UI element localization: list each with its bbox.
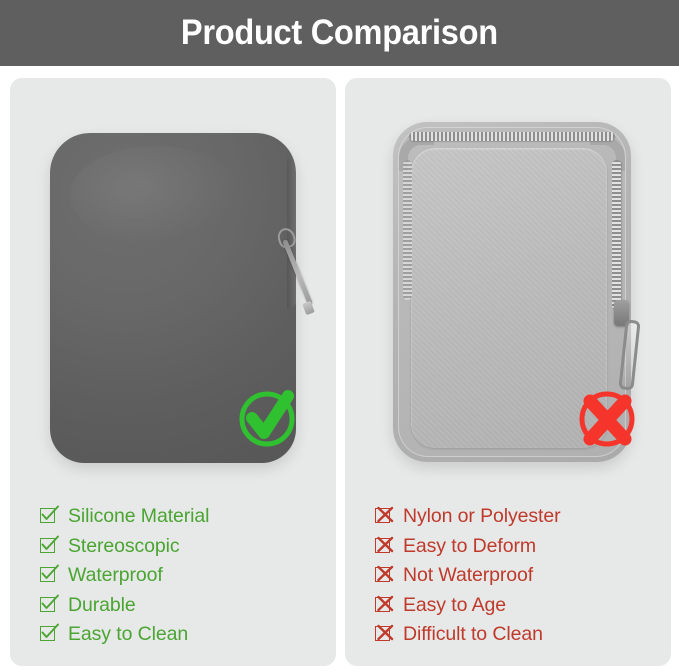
list-item: Easy to Age (375, 591, 661, 621)
feature-label: Difficult to Clean (403, 625, 543, 645)
zipper-track-right (612, 160, 621, 310)
list-item: Waterproof (40, 561, 326, 591)
list-item: Nylon or Polyester (375, 502, 661, 532)
feature-list-left: Silicone Material Stereoscopic (40, 502, 326, 650)
sleeve-highlight (70, 146, 242, 245)
sleeve-zipper-pull-tip (302, 301, 315, 315)
list-item: Easy to Clean (40, 620, 326, 650)
feature-label: Silicone Material (68, 507, 209, 527)
zipper-track-left (403, 160, 412, 300)
checked-box-icon (40, 566, 59, 585)
checked-box-icon (40, 625, 59, 644)
checked-box-icon (40, 596, 59, 615)
crossed-box-icon (375, 596, 394, 615)
page-title: Product Comparison (181, 13, 498, 53)
comparison-panel-right: Nylon or Polyester Easy to Deform (345, 78, 671, 666)
red-cross-circle-icon (577, 386, 639, 448)
feature-label: Durable (68, 596, 136, 616)
header-bar: Product Comparison (0, 0, 679, 66)
product-image-right (345, 78, 671, 488)
list-item: Silicone Material (40, 502, 326, 532)
green-check-circle-icon (238, 386, 300, 448)
feature-label: Nylon or Polyester (403, 507, 561, 527)
feature-label: Easy to Deform (403, 537, 536, 557)
feature-label: Not Waterproof (403, 566, 533, 586)
list-item: Stereoscopic (40, 532, 326, 562)
comparison-container: Silicone Material Stereoscopic (0, 66, 679, 671)
checked-box-icon (40, 537, 59, 556)
list-item: Easy to Deform (375, 532, 661, 562)
list-item: Not Waterproof (375, 561, 661, 591)
feature-label: Stereoscopic (68, 537, 180, 557)
list-item: Difficult to Clean (375, 620, 661, 650)
list-item: Durable (40, 591, 326, 621)
zipper-track-top (409, 132, 615, 141)
crossed-box-icon (375, 507, 394, 526)
product-image-left (10, 78, 336, 488)
comparison-panel-left: Silicone Material Stereoscopic (10, 78, 336, 666)
crossed-box-icon (375, 566, 394, 585)
feature-label: Easy to Clean (68, 625, 188, 645)
feature-label: Waterproof (68, 566, 163, 586)
feature-list-right: Nylon or Polyester Easy to Deform (375, 502, 661, 650)
checked-box-icon (40, 507, 59, 526)
crossed-box-icon (375, 625, 394, 644)
feature-label: Easy to Age (403, 596, 506, 616)
crossed-box-icon (375, 537, 394, 556)
